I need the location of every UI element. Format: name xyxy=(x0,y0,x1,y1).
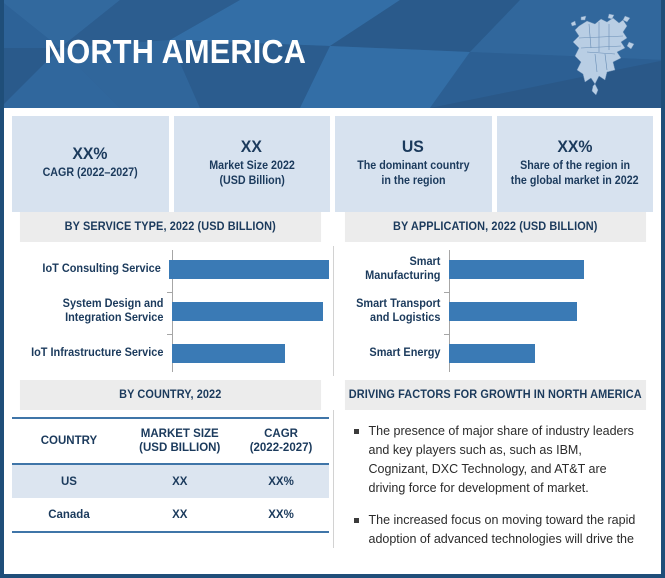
table-row: Canada XX XX% xyxy=(12,498,329,532)
section-header-service-type: BY SERVICE TYPE, 2022 (USD BILLION) xyxy=(20,212,321,242)
table-header-row: COUNTRY MARKET SIZE (USD BILLION) CAGR (… xyxy=(12,418,329,464)
north-america-infographic: NORTH AMERICA xyxy=(0,0,665,578)
section-header-application: BY APPLICATION, 2022 (USD BILLION) xyxy=(344,212,645,242)
bullet-square-icon xyxy=(354,429,359,434)
kpi-label-line2: (USD Billion) xyxy=(219,174,284,189)
table-cell-country: Canada xyxy=(12,498,126,532)
table-column-header-cagr: CAGR (2022-2027) xyxy=(234,418,329,464)
kpi-value: US xyxy=(402,136,424,157)
list-item: The increased focus on moving toward the… xyxy=(353,511,640,548)
chart-bar xyxy=(449,302,577,321)
chart-category-label: Smart Energy xyxy=(342,346,448,360)
kpi-value: XX% xyxy=(73,143,108,164)
table-cell-market-size: XX xyxy=(126,464,234,498)
chart-category-label-line2: Manufacturing xyxy=(342,269,448,283)
chart-category-label-line1: Smart xyxy=(342,255,448,269)
kpi-label-line1: Share of the region in xyxy=(520,159,630,174)
kpi-card-dominant-country: US The dominant country in the region xyxy=(335,116,492,212)
bottom-headers-row: BY COUNTRY, 2022 DRIVING FACTORS FOR GRO… xyxy=(4,380,661,410)
kpi-value: XX xyxy=(241,136,262,157)
country-table-col: COUNTRY MARKET SIZE (USD BILLION) CAGR (… xyxy=(12,410,329,548)
chart-bar xyxy=(172,302,323,321)
table-column-header-country: COUNTRY xyxy=(12,418,126,464)
bullet-square-icon xyxy=(354,518,359,523)
list-item-text: The presence of major share of industry … xyxy=(369,424,634,495)
country-header-col: BY COUNTRY, 2022 xyxy=(12,380,329,410)
chart-bar-row: IoT Infrastructure Service xyxy=(12,332,329,374)
kpi-label-line1: CAGR (2022–2027) xyxy=(43,166,138,181)
chart-bar xyxy=(449,260,584,279)
chart-bar-row: Smart Energy xyxy=(337,332,654,374)
chart-plot-area-application: Smart Manufacturing Smart Transport and … xyxy=(337,242,654,380)
column-divider xyxy=(333,246,334,376)
kpi-label-line2: the global market in 2022 xyxy=(511,174,639,189)
chart-category-label-line1: System Design and xyxy=(20,297,172,311)
country-table: COUNTRY MARKET SIZE (USD BILLION) CAGR (… xyxy=(12,417,329,533)
list-item: The presence of major share of industry … xyxy=(353,422,640,498)
chart-category-label-wrap: Smart Transport and Logistics xyxy=(337,297,449,325)
table-cell-country: US xyxy=(12,464,126,498)
chart-category-label-line2: and Logistics xyxy=(342,311,448,325)
chart-category-label: IoT Consulting Service xyxy=(20,262,169,276)
driving-factors-list: The presence of major share of industry … xyxy=(337,410,654,548)
kpi-card-global-share: XX% Share of the region in the global ma… xyxy=(497,116,654,212)
kpi-label-line1: The dominant country xyxy=(357,159,469,174)
chart-category-label-line2: Integration Service xyxy=(20,311,172,325)
kpi-row: XX% CAGR (2022–2027) XX Market Size 2022… xyxy=(4,108,661,212)
table-column-header-market-size: MARKET SIZE (USD BILLION) xyxy=(126,418,234,464)
chart-category-label-wrap: System Design and Integration Service xyxy=(12,297,172,325)
bottom-content-row: COUNTRY MARKET SIZE (USD BILLION) CAGR (… xyxy=(4,410,661,548)
chart-category-label-wrap: Smart Manufacturing xyxy=(337,255,449,283)
kpi-label-line1: Market Size 2022 xyxy=(209,159,295,174)
chart-application: Smart Manufacturing Smart Transport and … xyxy=(337,242,654,380)
column-divider xyxy=(333,410,334,548)
chart-bar xyxy=(169,260,328,279)
table-cell-cagr: XX% xyxy=(234,498,329,532)
chart-category-label-line1: Smart Transport xyxy=(342,297,448,311)
kpi-label-line2: in the region xyxy=(381,174,445,189)
chart-plot-area-service-type: IoT Consulting Service System Design and… xyxy=(12,242,329,380)
service-type-header-col: BY SERVICE TYPE, 2022 (USD BILLION) xyxy=(12,212,329,242)
north-america-map-icon xyxy=(565,12,637,96)
chart-bar-row: IoT Consulting Service xyxy=(12,248,329,290)
page-title: NORTH AMERICA xyxy=(44,32,306,72)
chart-bar-row: Smart Transport and Logistics xyxy=(337,290,654,332)
kpi-value: XX% xyxy=(557,136,592,157)
table-cell-market-size: XX xyxy=(126,498,234,532)
driving-factors-col: The presence of major share of industry … xyxy=(337,410,654,548)
country-table-area: COUNTRY MARKET SIZE (USD BILLION) CAGR (… xyxy=(12,410,329,533)
chart-bar xyxy=(172,344,285,363)
table-cell-cagr: XX% xyxy=(234,464,329,498)
application-header-col: BY APPLICATION, 2022 (USD BILLION) xyxy=(337,212,654,242)
chart-bar-row: System Design and Integration Service xyxy=(12,290,329,332)
header-banner: NORTH AMERICA xyxy=(0,0,665,108)
table-row: US XX XX% xyxy=(12,464,329,498)
infographic-body: XX% CAGR (2022–2027) XX Market Size 2022… xyxy=(4,108,661,574)
section-header-country: BY COUNTRY, 2022 xyxy=(20,380,321,410)
section-header-driving-factors: DRIVING FACTORS FOR GROWTH IN NORTH AMER… xyxy=(344,380,645,410)
driving-factors-header-col: DRIVING FACTORS FOR GROWTH IN NORTH AMER… xyxy=(337,380,654,410)
kpi-card-cagr: XX% CAGR (2022–2027) xyxy=(12,116,169,212)
charts-row: IoT Consulting Service System Design and… xyxy=(4,242,661,380)
chart-bar xyxy=(449,344,535,363)
chart-service-type: IoT Consulting Service System Design and… xyxy=(12,242,329,380)
chart-bar-row: Smart Manufacturing xyxy=(337,248,654,290)
list-item-text: The increased focus on moving toward the… xyxy=(369,513,636,548)
chart-category-label: IoT Infrastructure Service xyxy=(20,346,172,360)
kpi-card-market-size: XX Market Size 2022 (USD Billion) xyxy=(174,116,331,212)
chart-headers-row: BY SERVICE TYPE, 2022 (USD BILLION) BY A… xyxy=(4,212,661,242)
